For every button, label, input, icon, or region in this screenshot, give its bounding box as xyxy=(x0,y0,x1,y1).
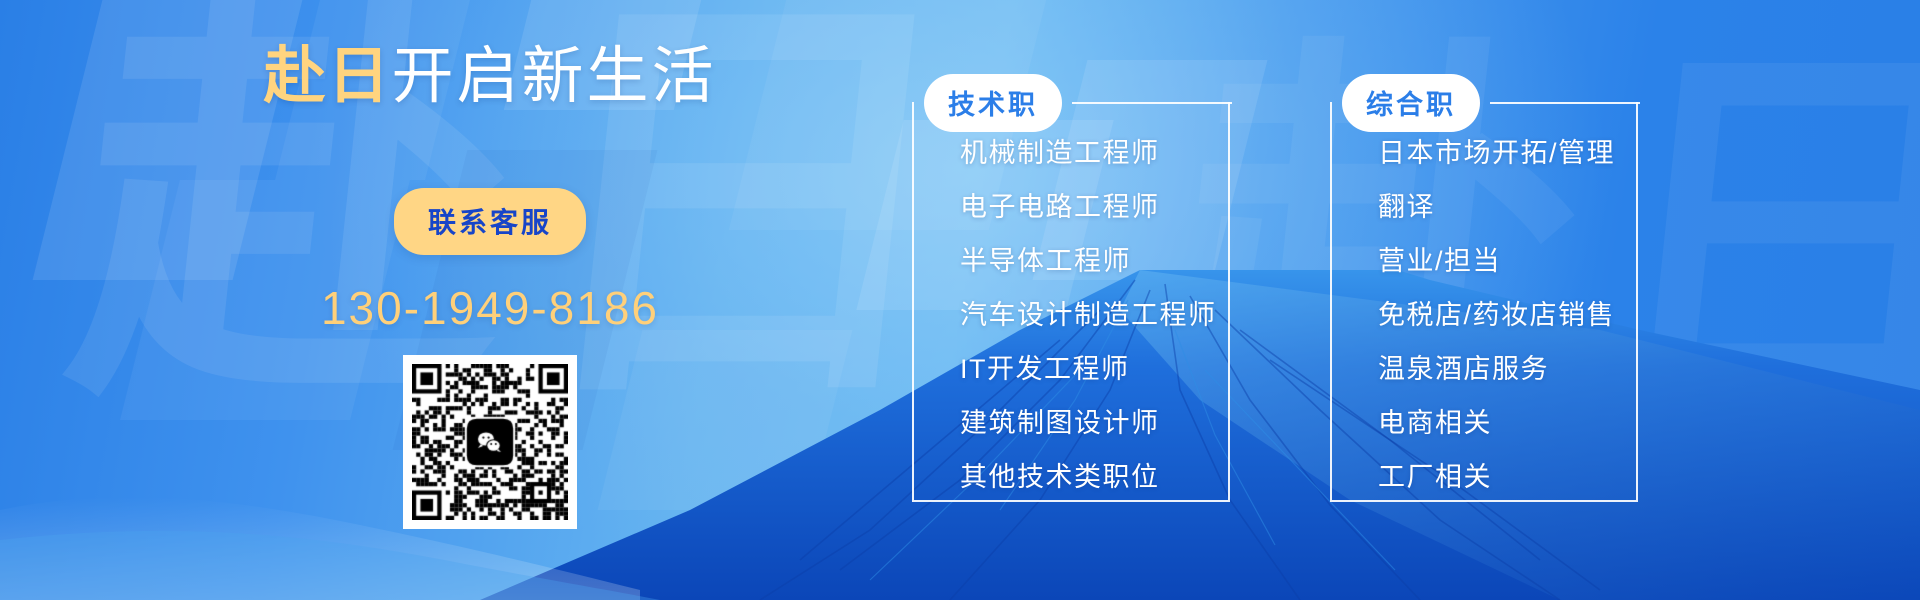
job-list-general: 日本市场开拓/管理 翻译 营业/担当 免税店/药妆店销售 温泉酒店服务 电商相关… xyxy=(1330,102,1638,518)
list-item[interactable]: 建筑制图设计师 xyxy=(960,410,1230,437)
list-item[interactable]: 免税店/药妆店销售 xyxy=(1378,302,1638,329)
panel-badge-general: 综合职 xyxy=(1342,74,1480,132)
job-panel-general: 综合职 日本市场开拓/管理 翻译 营业/担当 免税店/药妆店销售 温泉酒店服务 … xyxy=(1330,102,1638,518)
phone-number: 130-1949-8186 xyxy=(321,281,659,335)
promo-banner: 赴日 赴日 xyxy=(0,0,1920,600)
list-item[interactable]: 日本市场开拓/管理 xyxy=(1378,140,1638,167)
headline-accent: 赴日 xyxy=(263,42,391,111)
list-item[interactable]: 电子电路工程师 xyxy=(960,194,1230,221)
headline-rest: 开启新生活 xyxy=(392,42,717,111)
job-panel-tech: 技术职 机械制造工程师 电子电路工程师 半导体工程师 汽车设计制造工程师 IT开… xyxy=(912,102,1230,518)
job-list-tech: 机械制造工程师 电子电路工程师 半导体工程师 汽车设计制造工程师 IT开发工程师… xyxy=(912,102,1230,518)
list-item[interactable]: 电商相关 xyxy=(1378,410,1638,437)
list-item[interactable]: 温泉酒店服务 xyxy=(1378,356,1638,383)
list-item[interactable]: 营业/担当 xyxy=(1378,248,1638,275)
list-item[interactable]: IT开发工程师 xyxy=(960,356,1230,383)
left-contact-column: 赴日开启新生活 联系客服 130-1949-8186 xyxy=(120,0,860,600)
qr-canvas xyxy=(412,364,568,520)
wechat-qr-code[interactable] xyxy=(403,355,577,529)
list-item[interactable]: 机械制造工程师 xyxy=(960,140,1230,167)
list-item[interactable]: 半导体工程师 xyxy=(960,248,1230,275)
page-title: 赴日开启新生活 xyxy=(263,46,716,108)
list-item[interactable]: 翻译 xyxy=(1378,194,1638,221)
panel-badge-tech: 技术职 xyxy=(924,74,1062,132)
list-item[interactable]: 汽车设计制造工程师 xyxy=(960,302,1230,329)
list-item[interactable]: 其他技术类职位 xyxy=(960,464,1230,491)
contact-support-button[interactable]: 联系客服 xyxy=(394,188,586,255)
list-item[interactable]: 工厂相关 xyxy=(1378,464,1638,491)
